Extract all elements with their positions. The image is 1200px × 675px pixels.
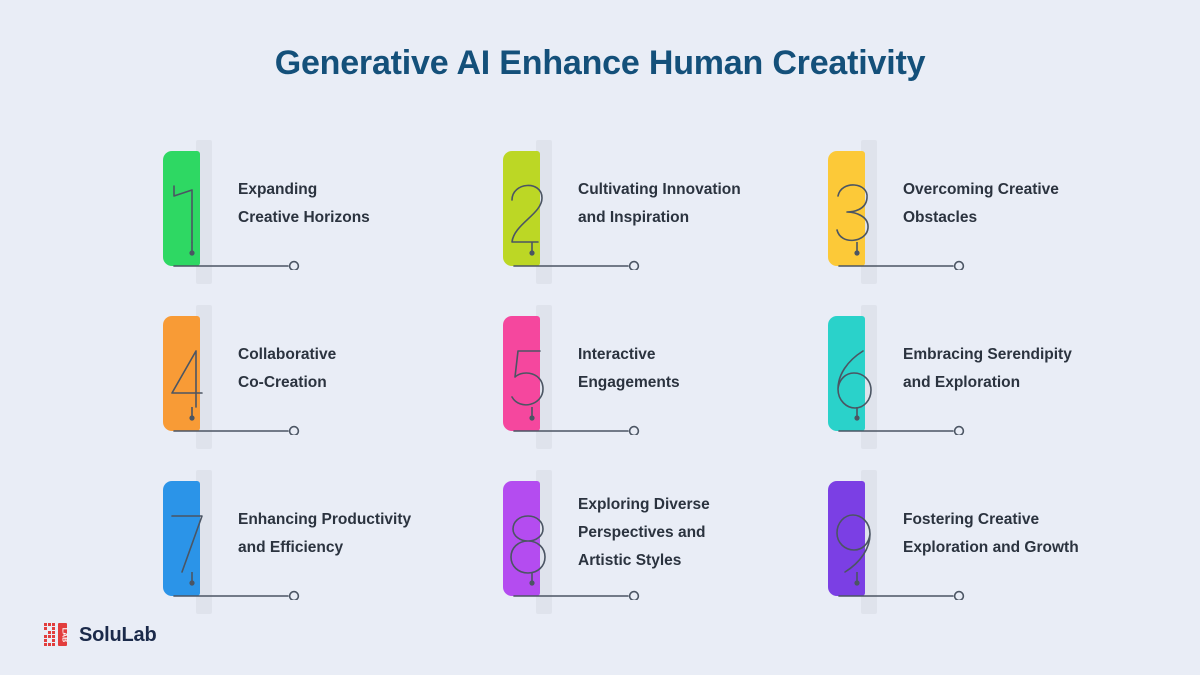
info-card: Embracing Serendipityand Exploration <box>815 305 1155 455</box>
card-label: Cultivating Innovationand Inspiration <box>578 176 818 232</box>
solulab-logo-icon: LAB <box>44 623 70 647</box>
card-label: ExpandingCreative Horizons <box>238 176 478 232</box>
card-label: Embracing Serendipityand Exploration <box>903 341 1143 397</box>
card-label-line: Exploring Diverse <box>578 491 818 519</box>
card-label-line: Cultivating Innovation <box>578 176 818 204</box>
card-label-line: Expanding <box>238 176 478 204</box>
card-color-block <box>163 316 200 431</box>
card-label-line: Exploration and Growth <box>903 534 1143 562</box>
card-color-block <box>503 316 540 431</box>
card-label-line: Creative Horizons <box>238 204 478 232</box>
card-label-line: Artistic Styles <box>578 547 818 575</box>
card-color-block <box>503 481 540 596</box>
page-title: Generative AI Enhance Human Creativity <box>0 44 1200 83</box>
info-card: Fostering CreativeExploration and Growth <box>815 470 1155 620</box>
card-label: Overcoming CreativeObstacles <box>903 176 1143 232</box>
card-label: InteractiveEngagements <box>578 341 818 397</box>
info-card: CollaborativeCo-Creation <box>150 305 490 455</box>
info-card: Cultivating Innovationand Inspiration <box>490 140 830 290</box>
info-card: InteractiveEngagements <box>490 305 830 455</box>
card-label-line: Fostering Creative <box>903 506 1143 534</box>
card-label: CollaborativeCo-Creation <box>238 341 478 397</box>
card-label-line: Perspectives and <box>578 519 818 547</box>
card-label-line: Engagements <box>578 369 818 397</box>
card-color-block <box>828 481 865 596</box>
card-label-line: Interactive <box>578 341 818 369</box>
card-label-line: Overcoming Creative <box>903 176 1143 204</box>
card-color-block <box>163 151 200 266</box>
card-label: Exploring DiversePerspectives andArtisti… <box>578 491 818 575</box>
card-label-line: Co-Creation <box>238 369 478 397</box>
card-color-block <box>828 316 865 431</box>
card-label: Fostering CreativeExploration and Growth <box>903 506 1143 562</box>
card-color-block <box>163 481 200 596</box>
info-card: Exploring DiversePerspectives andArtisti… <box>490 470 830 620</box>
card-color-block <box>828 151 865 266</box>
svg-text:LAB: LAB <box>61 628 68 642</box>
card-label-line: and Exploration <box>903 369 1143 397</box>
card-label-line: Obstacles <box>903 204 1143 232</box>
cards-grid: ExpandingCreative HorizonsCultivating In… <box>150 140 1160 635</box>
footer-logo: LAB SoluLab <box>44 623 157 647</box>
card-label-line: and Efficiency <box>238 534 478 562</box>
card-color-block <box>503 151 540 266</box>
card-label-line: Collaborative <box>238 341 478 369</box>
info-card: Enhancing Productivityand Efficiency <box>150 470 490 620</box>
info-card: Overcoming CreativeObstacles <box>815 140 1155 290</box>
brand-name: SoluLab <box>79 624 157 647</box>
card-label: Enhancing Productivityand Efficiency <box>238 506 478 562</box>
card-label-line: Embracing Serendipity <box>903 341 1143 369</box>
card-label-line: and Inspiration <box>578 204 818 232</box>
info-card: ExpandingCreative Horizons <box>150 140 490 290</box>
card-label-line: Enhancing Productivity <box>238 506 478 534</box>
